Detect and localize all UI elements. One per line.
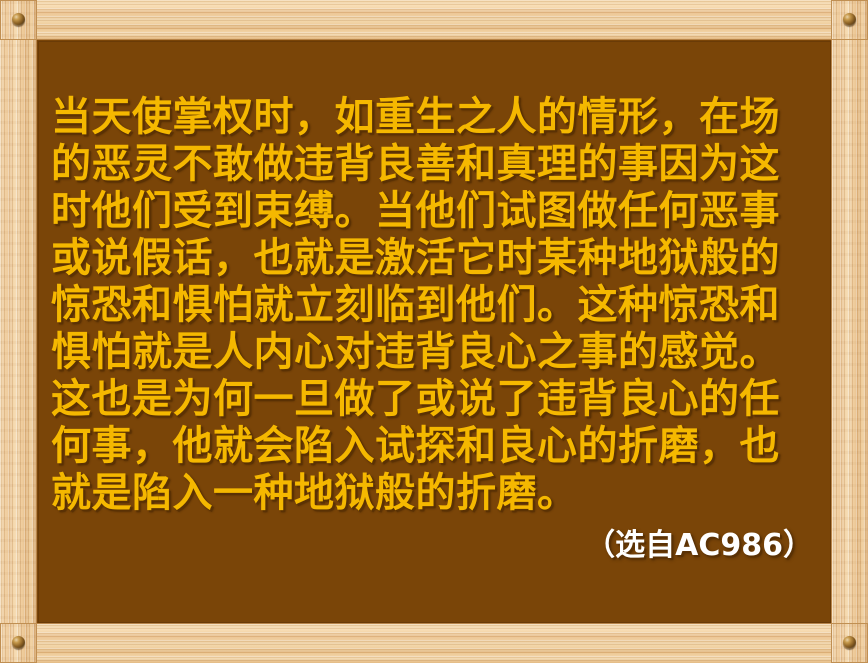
frame-stile-right — [831, 0, 868, 663]
frame-rail-bottom — [0, 623, 868, 663]
quote-line: 惧怕就是人内心对违背良心之事的感觉。 — [51, 329, 819, 376]
frame-rail-top — [0, 0, 868, 40]
screw-icon-bottom-right — [843, 636, 856, 649]
quote-line: 或说假话，也就是激活它时某种地狱般的 — [51, 235, 819, 282]
quote-line: 这也是为何一旦做了或说了违背良心的任 — [51, 376, 819, 423]
quote-text-block: 当天使掌权时，如重生之人的情形，在场 的恶灵不敢做违背良善和真理的事因为这 时他… — [51, 94, 819, 517]
frame-stile-left — [0, 0, 37, 663]
quote-citation: （选自AC986） — [585, 528, 813, 564]
quote-line: 惊恐和惧怕就立刻临到他们。这种惊恐和 — [51, 282, 819, 329]
quote-line: 当天使掌权时，如重生之人的情形，在场 — [51, 94, 819, 141]
screw-icon-top-right — [843, 13, 856, 26]
screw-icon-top-left — [12, 13, 25, 26]
screw-icon-bottom-left — [12, 636, 25, 649]
quote-line: 时他们受到束缚。当他们试图做任何恶事 — [51, 188, 819, 235]
quote-line: 的恶灵不敢做违背良善和真理的事因为这 — [51, 141, 819, 188]
quote-line: 何事，他就会陷入试探和良心的折磨，也 — [51, 423, 819, 470]
quote-panel: 当天使掌权时，如重生之人的情形，在场 的恶灵不敢做违背良善和真理的事因为这 时他… — [38, 41, 831, 623]
wooden-picture-frame: 当天使掌权时，如重生之人的情形，在场 的恶灵不敢做违背良善和真理的事因为这 时他… — [0, 0, 868, 663]
quote-line: 就是陷入一种地狱般的折磨。 — [51, 470, 819, 517]
